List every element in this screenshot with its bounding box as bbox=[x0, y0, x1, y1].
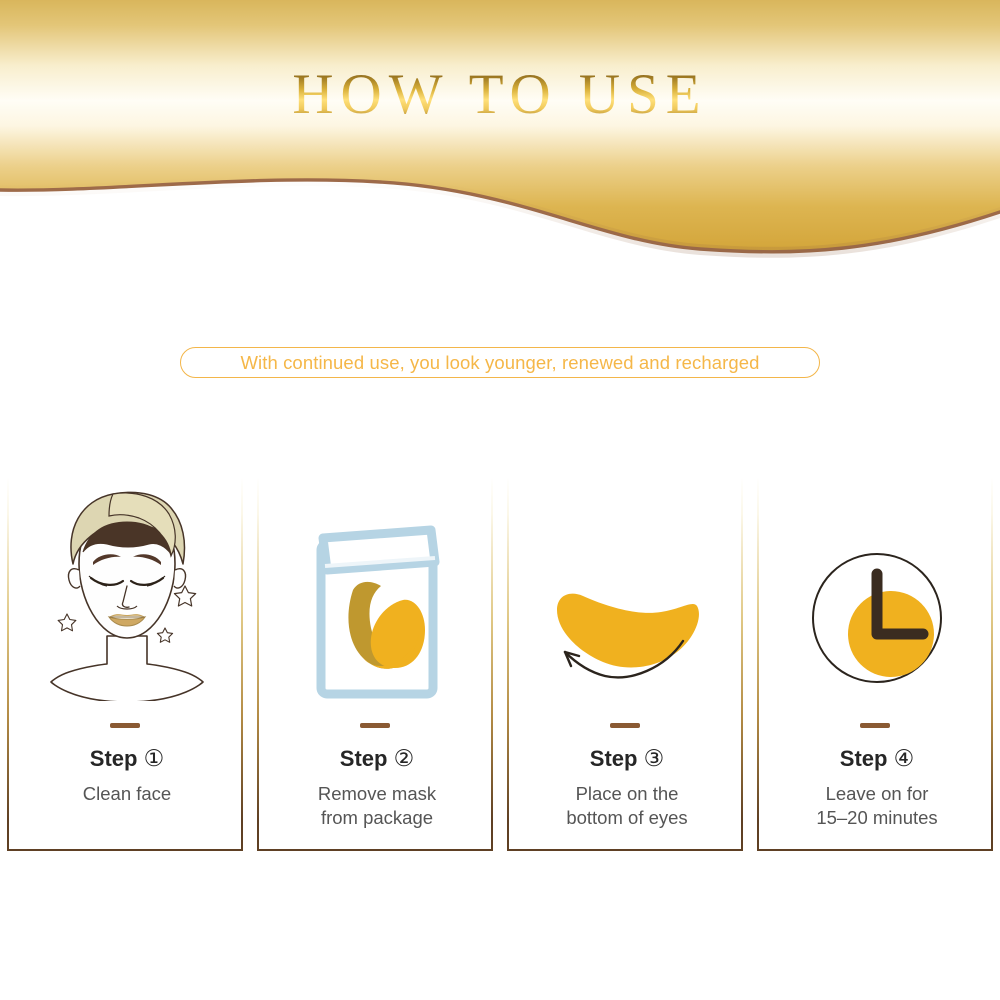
step-desc-line: Clean face bbox=[9, 782, 245, 806]
step-card-3[interactable]: Step ③ Place on the bottom of eyes bbox=[507, 478, 743, 851]
step-desc-line: Remove mask bbox=[259, 782, 495, 806]
step-divider-dash bbox=[360, 723, 390, 728]
eye-patch-arrow-icon bbox=[509, 486, 745, 701]
step-label-3: Step ③ bbox=[509, 745, 745, 772]
step-divider-dash bbox=[610, 723, 640, 728]
mask-package-icon bbox=[259, 486, 495, 701]
face-cleansing-icon bbox=[9, 486, 245, 701]
step-divider-dash bbox=[110, 723, 140, 728]
page-title: HOW TO USE bbox=[0, 62, 1000, 127]
step-word: Step bbox=[90, 746, 138, 771]
step-desc-line: from package bbox=[259, 806, 495, 830]
step-desc-line: Leave on for bbox=[759, 782, 995, 806]
step-label-4: Step ④ bbox=[759, 745, 995, 772]
step-word: Step bbox=[340, 746, 388, 771]
step-label-1: Step ① bbox=[9, 745, 245, 772]
steps-container: Step ① Clean face Step ② Remove mask bbox=[0, 478, 1000, 853]
step-card-2[interactable]: Step ② Remove mask from package bbox=[257, 478, 493, 851]
step-number: ① bbox=[144, 745, 165, 771]
header-gold-wave-background bbox=[0, 0, 1000, 270]
step-card-1[interactable]: Step ① Clean face bbox=[7, 478, 243, 851]
step-card-4[interactable]: Step ④ Leave on for 15–20 minutes bbox=[757, 478, 993, 851]
step-description-3: Place on the bottom of eyes bbox=[509, 782, 745, 830]
step-number: ② bbox=[394, 745, 415, 771]
clock-icon bbox=[759, 486, 995, 701]
step-label-2: Step ② bbox=[259, 745, 495, 772]
step-word: Step bbox=[590, 746, 638, 771]
step-description-4: Leave on for 15–20 minutes bbox=[759, 782, 995, 830]
step-desc-line: Place on the bbox=[509, 782, 745, 806]
step-word: Step bbox=[840, 746, 888, 771]
step-description-1: Clean face bbox=[9, 782, 245, 806]
step-number: ④ bbox=[894, 745, 915, 771]
tagline-text: With continued use, you look younger, re… bbox=[240, 352, 759, 374]
step-number: ③ bbox=[644, 745, 665, 771]
step-description-2: Remove mask from package bbox=[259, 782, 495, 830]
tagline-banner: With continued use, you look younger, re… bbox=[180, 347, 820, 378]
page-header: HOW TO USE bbox=[0, 0, 1000, 270]
step-desc-line: 15–20 minutes bbox=[759, 806, 995, 830]
step-desc-line: bottom of eyes bbox=[509, 806, 745, 830]
step-divider-dash bbox=[860, 723, 890, 728]
